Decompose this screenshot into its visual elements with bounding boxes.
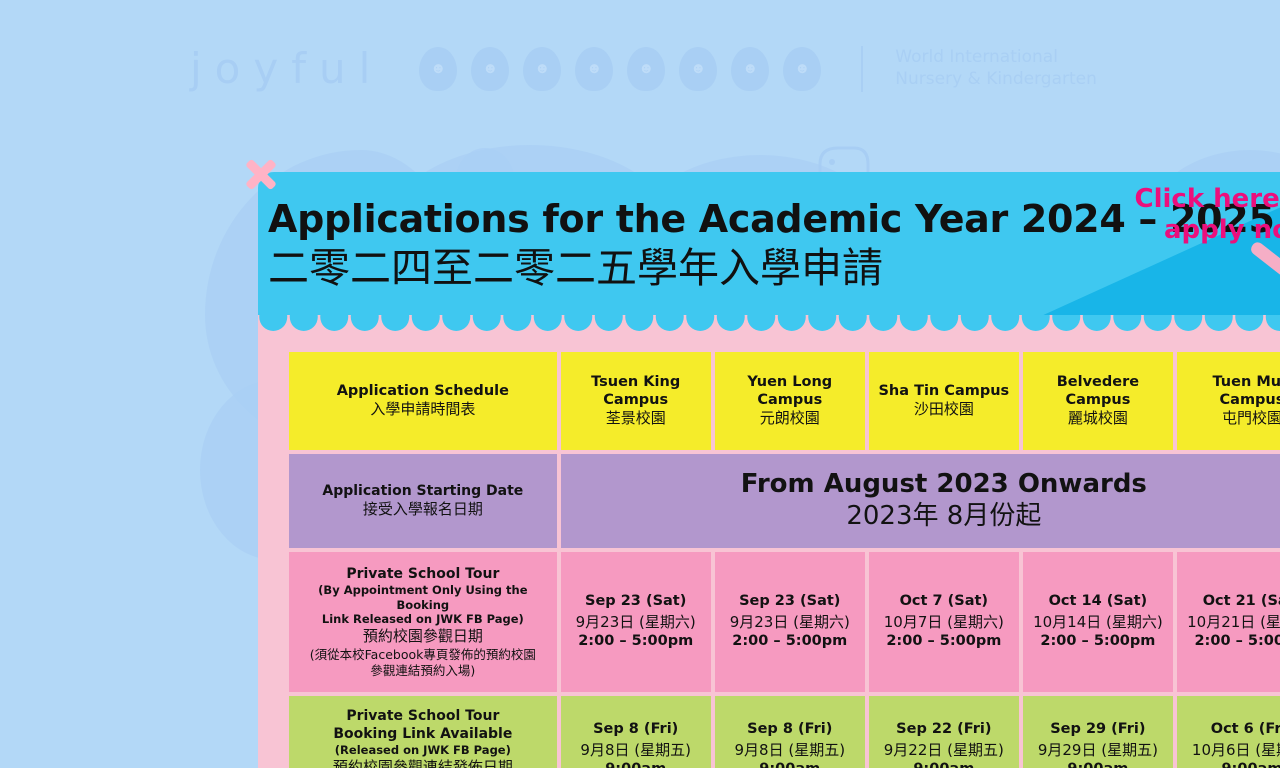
- brand-wordmark: joyful: [190, 44, 383, 93]
- date-zh: 10月21日 (星期六): [1181, 612, 1280, 632]
- cell-booking-link-1: Sep 8 (Fri) 9月8日 (星期五) 9:00am: [715, 696, 865, 768]
- header-cell-campus-0: Tsuen King Campus 荃景校園: [561, 352, 711, 450]
- child-icon: ☻: [679, 47, 717, 91]
- merged-value-zh: 2023年 8月份起: [565, 500, 1280, 533]
- cell-booking-link-0: Sep 8 (Fri) 9月8日 (星期五) 9:00am: [561, 696, 711, 768]
- cell-school-tour-3: Oct 14 (Sat) 10月14日 (星期六) 2:00 – 5:00pm: [1023, 552, 1173, 692]
- table-row-application-start: Application Starting Date 接受入學報名日期 From …: [289, 454, 1280, 548]
- cell-school-tour-4: Oct 21 (Sat) 10月21日 (星期六) 2:00 – 5:00pm: [1177, 552, 1280, 692]
- brand-icon-strip: ☻ ☻ ☻ ☻ ☻ ☻ ☻ ☻: [419, 47, 821, 91]
- brand-subtitle-line2: Nursery & Kindergarten: [895, 69, 1097, 90]
- header-cell-campus-2: Sha Tin Campus 沙田校園: [869, 352, 1019, 450]
- announcement-card: Applications for the Academic Year 2024 …: [258, 172, 1280, 768]
- row-label-en-note: (Released on JWK FB Page): [293, 743, 553, 758]
- row-label-zh: 接受入學報名日期: [293, 500, 553, 520]
- campus-name-zh: 元朗校園: [719, 409, 861, 429]
- date-zh: 9月29日 (星期五): [1027, 740, 1169, 760]
- time-value: 2:00 – 5:00pm: [1181, 632, 1280, 652]
- time-value: 9:00am: [873, 760, 1015, 768]
- campus-name-en: Yuen Long Campus: [719, 373, 861, 409]
- campus-name-en: Sha Tin Campus: [873, 382, 1015, 400]
- cell-booking-link-3: Sep 29 (Fri) 9月29日 (星期五) 9:00am: [1023, 696, 1173, 768]
- campus-name-zh: 麗城校園: [1027, 409, 1169, 429]
- date-en: Oct 21 (Sat): [1181, 592, 1280, 612]
- header-cell-campus-4: Tuen Mun Campus 屯門校園: [1177, 352, 1280, 450]
- child-icon: ☻: [575, 47, 613, 91]
- application-schedule-table: Application Schedule 入學申請時間表 Tsuen King …: [285, 348, 1280, 768]
- row-label-en2: Booking Link Available: [293, 725, 553, 743]
- row-label-zh: 預約校園參觀連結發佈日期: [293, 758, 553, 768]
- row-label-en-note: (By Appointment Only Using the Booking: [293, 583, 553, 612]
- time-value: 9:00am: [565, 760, 707, 768]
- campus-name-zh: 沙田校園: [873, 400, 1015, 420]
- table-header-row: Application Schedule 入學申請時間表 Tsuen King …: [289, 352, 1280, 450]
- cell-school-tour-2: Oct 7 (Sat) 10月7日 (星期六) 2:00 – 5:00pm: [869, 552, 1019, 692]
- row-label-application-start: Application Starting Date 接受入學報名日期: [289, 454, 557, 548]
- row-label-zh-note: 參觀連結預約入場): [293, 663, 553, 679]
- time-value: 9:00am: [719, 760, 861, 768]
- date-en: Sep 8 (Fri): [565, 720, 707, 740]
- child-icon: ☻: [471, 47, 509, 91]
- banner: Applications for the Academic Year 2024 …: [258, 172, 1280, 322]
- campus-name-en: Tuen Mun Campus: [1181, 373, 1280, 409]
- mascot-icon: [1244, 225, 1280, 320]
- table-row-school-tour: Private School Tour (By Appointment Only…: [289, 552, 1280, 692]
- date-zh: 9月8日 (星期五): [719, 740, 861, 760]
- date-en: Sep 22 (Fri): [873, 720, 1015, 740]
- date-en: Sep 8 (Fri): [719, 720, 861, 740]
- brand-subtitle-line1: World International: [895, 47, 1097, 68]
- cell-booking-link-4: Oct 6 (Fri) 10月6日 (星期五) 9:00am: [1177, 696, 1280, 768]
- header-cell-campus-1: Yuen Long Campus 元朗校園: [715, 352, 865, 450]
- merged-value-en: From August 2023 Onwards: [565, 469, 1280, 500]
- cta-line-1: Click here and: [1124, 184, 1280, 215]
- date-en: Sep 23 (Sat): [719, 592, 861, 612]
- row-label-en: Private School Tour: [293, 707, 553, 725]
- row-label-en-note: Link Released on JWK FB Page): [293, 612, 553, 627]
- row-label-en: Application Starting Date: [293, 482, 553, 500]
- child-icon: ☻: [419, 47, 457, 91]
- row-label-school-tour: Private School Tour (By Appointment Only…: [289, 552, 557, 692]
- campus-name-en: Tsuen King Campus: [565, 373, 707, 409]
- row-label-zh: 預約校園參觀日期: [293, 627, 553, 647]
- campus-name-zh: 荃景校園: [565, 409, 707, 429]
- child-icon: ☻: [523, 47, 561, 91]
- date-zh: 9月23日 (星期六): [719, 612, 861, 632]
- date-en: Oct 6 (Fri): [1181, 720, 1280, 740]
- campus-name-zh: 屯門校園: [1181, 409, 1280, 429]
- date-en: Oct 7 (Sat): [873, 592, 1015, 612]
- table-row-booking-link: Private School Tour Booking Link Availab…: [289, 696, 1280, 768]
- child-icon: ☻: [783, 47, 821, 91]
- page-root: joyful ☻ ☻ ☻ ☻ ☻ ☻ ☻ ☻ World Internation…: [0, 0, 1280, 768]
- cell-application-start-merged: From August 2023 Onwards 2023年 8月份起: [561, 454, 1280, 548]
- application-schedule-table-wrap: Application Schedule 入學申請時間表 Tsuen King …: [285, 348, 1280, 768]
- date-zh: 9月22日 (星期五): [873, 740, 1015, 760]
- cell-school-tour-1: Sep 23 (Sat) 9月23日 (星期六) 2:00 – 5:00pm: [715, 552, 865, 692]
- child-icon: ☻: [731, 47, 769, 91]
- date-zh: 10月7日 (星期六): [873, 612, 1015, 632]
- row-label-en: Private School Tour: [293, 565, 553, 583]
- time-value: 9:00am: [1181, 760, 1280, 768]
- row-label-booking-link: Private School Tour Booking Link Availab…: [289, 696, 557, 768]
- date-en: Sep 29 (Fri): [1027, 720, 1169, 740]
- brand-divider: [861, 46, 863, 92]
- date-zh: 10月14日 (星期六): [1027, 612, 1169, 632]
- time-value: 2:00 – 5:00pm: [1027, 632, 1169, 652]
- page-title-zh: 二零二四至二零二五學年入學申請: [268, 245, 1275, 292]
- time-value: 2:00 – 5:00pm: [719, 632, 861, 652]
- child-icon: ☻: [627, 47, 665, 91]
- time-value: 9:00am: [1027, 760, 1169, 768]
- time-value: 2:00 – 5:00pm: [565, 632, 707, 652]
- row-label-zh-note: (須從本校Facebook專頁發佈的預約校園: [293, 647, 553, 663]
- date-zh: 10月6日 (星期五): [1181, 740, 1280, 760]
- brand-subtitle: World International Nursery & Kindergart…: [895, 47, 1097, 90]
- cell-booking-link-2: Sep 22 (Fri) 9月22日 (星期五) 9:00am: [869, 696, 1019, 768]
- date-en: Oct 14 (Sat): [1027, 592, 1169, 612]
- campus-name-en: Belvedere Campus: [1027, 373, 1169, 409]
- brand-watermark: joyful ☻ ☻ ☻ ☻ ☻ ☻ ☻ ☻ World Internation…: [190, 44, 1097, 93]
- time-value: 2:00 – 5:00pm: [873, 632, 1015, 652]
- date-en: Sep 23 (Sat): [565, 592, 707, 612]
- header-label-zh: 入學申請時間表: [293, 400, 553, 420]
- pink-cross-decoration: [243, 155, 279, 191]
- date-zh: 9月23日 (星期六): [565, 612, 707, 632]
- date-zh: 9月8日 (星期五): [565, 740, 707, 760]
- header-cell-campus-3: Belvedere Campus 麗城校園: [1023, 352, 1173, 450]
- header-label-en: Application Schedule: [293, 382, 553, 400]
- header-cell-schedule: Application Schedule 入學申請時間表: [289, 352, 557, 450]
- cell-school-tour-0: Sep 23 (Sat) 9月23日 (星期六) 2:00 – 5:00pm: [561, 552, 711, 692]
- scalloped-edge: [258, 315, 1280, 335]
